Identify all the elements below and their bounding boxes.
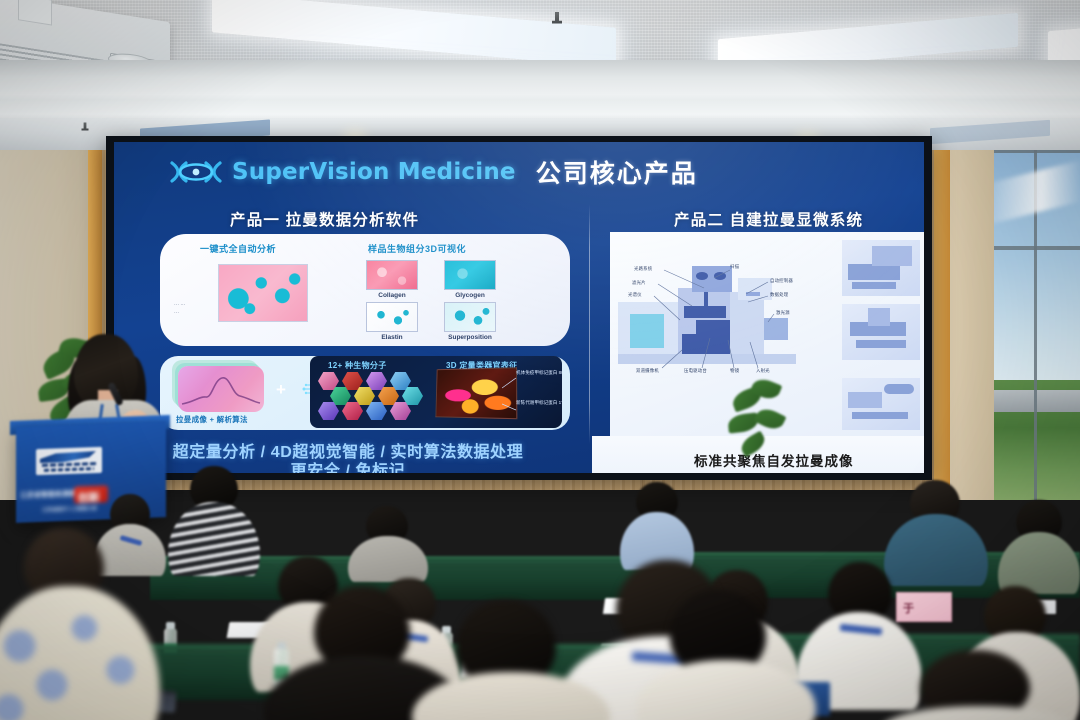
raman-heatmap-image: [218, 264, 308, 322]
potted-plant-icon: [726, 380, 800, 470]
window-mullion: [994, 246, 1080, 250]
slide-header: SuperVision Medicine 公司核心产品: [114, 142, 924, 202]
sprinkler-icon: [82, 122, 89, 133]
sub-label-auto-analysis: 一键式全自动分析: [200, 242, 276, 255]
ac-housing: [18, 0, 52, 26]
annotation-protein-2: 新陈代谢甲标记蛋白 172.3mg/mL: [516, 400, 562, 406]
right-panel-title: 产品二 自建拉曼显微系统: [674, 208, 863, 230]
tile-label-collagen: Collagen: [366, 292, 418, 299]
tile-label-glycogen: Glycogen: [444, 292, 496, 299]
audience-person: [998, 500, 1080, 590]
window-mullion: [994, 150, 1080, 153]
microscope-thumbnail-1: [842, 240, 920, 296]
diagram-label-2: 自动控制器: [770, 278, 793, 284]
podium-swoosh: [40, 451, 96, 463]
diagram-label-3: 滤光片: [632, 280, 646, 286]
podium-logo-text-2: [44, 467, 94, 472]
diagram-label-4: 数据处理: [770, 292, 788, 298]
microscope-thumbnail-2: [842, 304, 920, 360]
left-panel-title: 产品一 拉曼数据分析软件: [230, 208, 419, 230]
diagram-label-7: 双道摄像机: [636, 368, 659, 374]
diagram-label-10: 入射光: [756, 368, 770, 374]
annotation-leaders: [502, 370, 536, 416]
tile-label-elastin: Elastin: [366, 334, 418, 341]
tile-glycogen: [444, 260, 496, 290]
sub-label-3d-visualization: 样品生物组分3D可视化: [368, 242, 466, 255]
audience-person: [412, 600, 610, 720]
audience-person: [0, 528, 160, 720]
dna-eye-logo-icon: [170, 160, 222, 184]
led-screen-frame: SuperVision Medicine 公司核心产品 产品一 拉曼数据分析软件…: [106, 136, 932, 480]
audience-person: [168, 466, 260, 574]
wall-column-right: [948, 150, 994, 500]
conference-photo-scene: SuperVision Medicine 公司核心产品 产品一 拉曼数据分析软件…: [0, 0, 1080, 720]
tile-superposition: [444, 302, 496, 332]
molecules-title: 12+ 种生物分子: [328, 360, 387, 371]
diagram-label-5: 光谱仪: [628, 292, 642, 298]
podium-logo-icon: [36, 447, 102, 475]
schematic-leader-lines: [618, 258, 832, 378]
tile-label-superposition: Superposition: [438, 334, 502, 341]
left-white-card: 一键式全自动分析 样品生物组分3D可视化 ··· ······ Collagen…: [160, 234, 570, 346]
footer-line-1: 超定量分析 / 4D超视觉智能 / 实时算法数据处理: [114, 444, 582, 463]
slide-body: 产品一 拉曼数据分析软件 产品二 自建拉曼显微系统 一键式全自动分析 样品生物组…: [114, 200, 924, 473]
diagram-label-6: 激光源: [776, 310, 790, 316]
microscope-schematic: 光路系统 扫描 自动控制器 滤光片 数据处理 光谱仪 激光源 双道摄像机 压电驱…: [618, 258, 832, 378]
audience-person: [620, 482, 694, 568]
diagram-label-1: 扫描: [730, 264, 739, 270]
heatmap-axis-ticks: ··· ······: [174, 302, 185, 317]
ceiling-vent-icon: [930, 120, 1050, 144]
audience-person: [880, 650, 1080, 720]
plus-operator: +: [276, 380, 286, 400]
diagram-label-0: 光路系统: [634, 266, 652, 272]
spectrum-curve-icon: [178, 366, 264, 412]
caption-raman-algo: 拉曼成像 + 解析算法: [176, 414, 248, 425]
annotation-protein-1: 机体免疫甲标记蛋白 80.4mg/mL: [516, 370, 562, 376]
molecule-hex-grid: [318, 372, 426, 422]
audience-person: [636, 590, 816, 720]
window-road: [994, 390, 1080, 412]
window-glare: [994, 156, 1080, 224]
tile-elastin: [366, 302, 418, 332]
slide-title: 公司核心产品: [536, 154, 698, 190]
window-icon: [994, 150, 1080, 500]
tile-collagen: [366, 260, 418, 290]
podium-logo-text-1: [42, 462, 96, 467]
diagram-label-8: 压电驱动台: [684, 368, 707, 374]
panel-divider: [589, 204, 590, 444]
wall-column-trim-right: [934, 150, 950, 500]
diagram-label-9: 物镜: [730, 368, 739, 374]
molecule-dark-card: 12+ 种生物分子 3D 定量类器官表征: [310, 356, 562, 428]
presentation-screen[interactable]: SuperVision Medicine 公司核心产品 产品一 拉曼数据分析软件…: [114, 142, 924, 473]
microscope-thumbnail-3: [842, 378, 920, 430]
brand-name: SuperVision Medicine: [232, 159, 516, 185]
